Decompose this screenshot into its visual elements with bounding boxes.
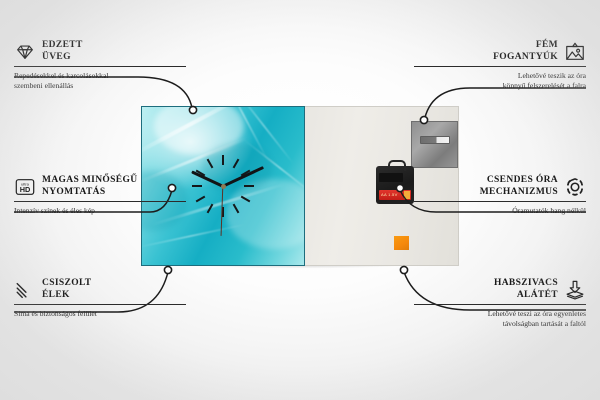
clock-center-cap	[221, 184, 226, 189]
foam-pad-arrow-icon	[564, 279, 586, 301]
callout-description: Intenzív színek és éles kép	[14, 206, 186, 216]
callout-title: MAGAS MINŐSÉGŰNYOMTATÁS	[42, 175, 137, 198]
callout-hd-print: ultra HD MAGAS MINŐSÉGŰNYOMTATÁS Intenzí…	[14, 175, 186, 216]
callout-description: Lehetővé teszi az óra egyenletestávolság…	[414, 309, 586, 329]
callout-description: Repedésekkel és karcolásokkalszembeni el…	[14, 71, 186, 91]
battery: AA 1.5V	[379, 190, 411, 200]
callout-description: Óramutatók hang nélkül	[414, 206, 586, 216]
callout-divider	[414, 201, 586, 202]
callout-foam-backing: HABSZIVACSALÁTÉT Lehetővé teszi az óra e…	[414, 278, 586, 329]
callout-divider	[14, 201, 186, 202]
callout-title: HABSZIVACSALÁTÉT	[494, 278, 558, 301]
ultra-hd-icon: ultra HD	[14, 176, 36, 198]
svg-text:HD: HD	[20, 185, 31, 194]
picture-hanger-icon	[564, 41, 586, 63]
foam-pad	[394, 236, 409, 250]
callout-divider	[414, 66, 586, 67]
callout-title: CSENDES ÓRAMECHANIZMUS	[480, 175, 558, 198]
callout-tempered-glass: EDZETTÜVEG Repedésekkel és karcolásokkal…	[14, 40, 186, 91]
movement-body	[379, 173, 403, 182]
diamond-icon	[14, 41, 36, 63]
callout-description: Sima és biztonságos felület	[14, 309, 186, 319]
hanger-slot	[420, 136, 450, 144]
infographic-canvas: AA 1.5V	[0, 0, 600, 400]
callout-title: EDZETTÜVEG	[42, 40, 83, 63]
product-image: AA 1.5V	[141, 106, 459, 266]
battery-terminal	[404, 191, 410, 199]
callout-description: Lehetővé teszik az órakönnyű felszerelés…	[414, 71, 586, 91]
movement-loop	[388, 160, 406, 171]
callout-title: CSISZOLTÉLEK	[42, 278, 91, 301]
gear-icon	[564, 176, 586, 198]
callout-silent-mechanism: CSENDES ÓRAMECHANIZMUS Óramu	[414, 175, 586, 216]
callout-divider	[14, 304, 186, 305]
callout-divider	[14, 66, 186, 67]
callout-metal-handles: FÉMFOGANTYÚK Lehetővé teszik az órakönny…	[414, 40, 586, 91]
metal-hanger	[411, 121, 458, 168]
battery-label: AA 1.5V	[381, 192, 398, 197]
callout-title: FÉMFOGANTYÚK	[493, 40, 558, 63]
callout-polished-edges: CSISZOLTÉLEK Sima és biztonságos felület	[14, 278, 186, 319]
callout-divider	[414, 304, 586, 305]
polished-edges-icon	[14, 279, 36, 301]
quartz-movement: AA 1.5V	[376, 166, 414, 204]
